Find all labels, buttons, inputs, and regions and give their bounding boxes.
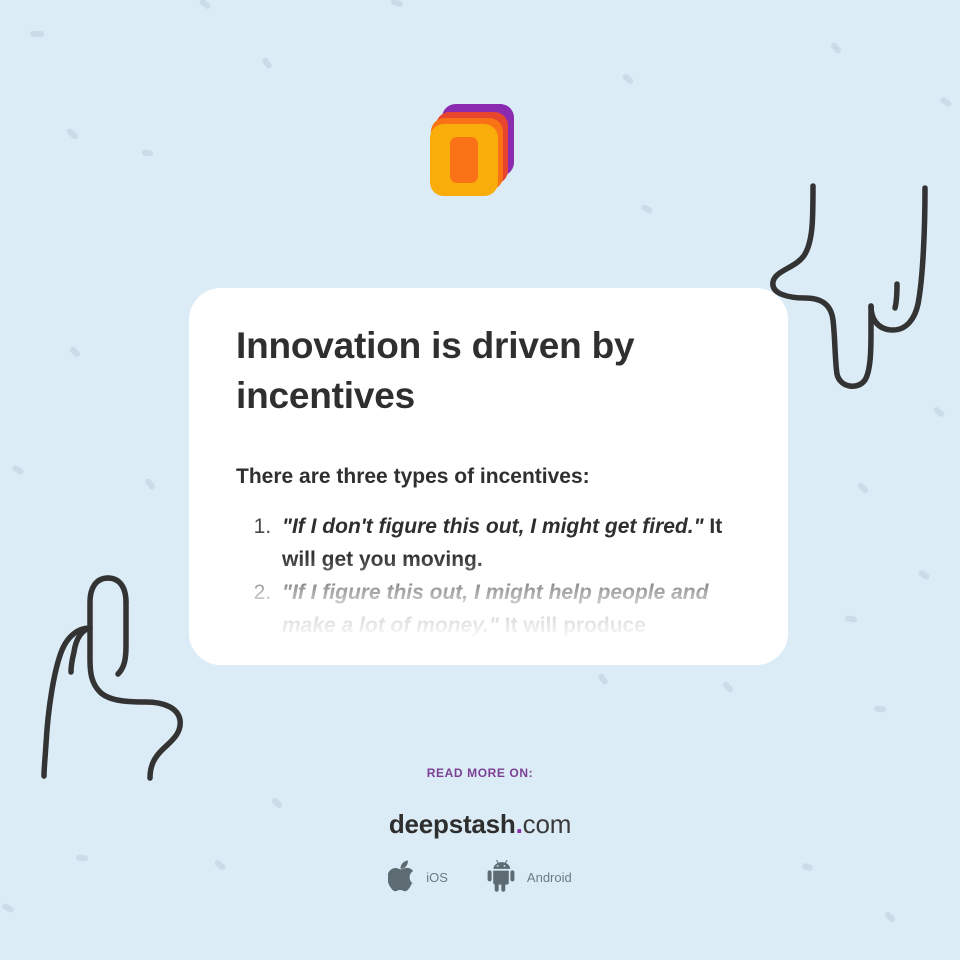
confetti-piece [597,672,609,685]
list-item: "If I figure this out, I might help peop… [277,576,748,642]
confetti-piece [722,681,734,694]
incentives-list: "If I don't figure this out, I might get… [236,510,748,642]
list-item-quote: "If I don't figure this out, I might get… [282,515,704,538]
confetti-piece [390,0,403,8]
confetti-piece [932,406,945,418]
idea-card: Innovation is driven by incentives There… [189,288,788,665]
confetti-piece [30,31,44,37]
confetti-piece [874,706,886,713]
confetti-piece [1,902,14,913]
confetti-piece [142,149,154,156]
brand-dot: . [516,809,523,839]
android-label: Android [527,870,572,885]
confetti-piece [884,911,897,924]
pointing-hand-bottom-left [28,568,208,783]
confetti-piece [69,346,82,359]
apple-icon [388,860,417,894]
confetti-piece [830,41,842,54]
android-icon [484,860,518,894]
list-item-rest: It will produce [499,614,646,637]
confetti-piece [857,482,870,495]
idea-card-content: Innovation is driven by incentives There… [189,288,788,642]
brand-tld: com [523,809,572,839]
confetti-piece [11,464,24,475]
poster-canvas: Innovation is driven by incentives There… [0,0,960,960]
android-badge[interactable]: Android [484,860,572,894]
confetti-piece [198,0,211,10]
confetti-piece [66,127,80,140]
deepstash-logo [428,102,520,200]
ios-label: iOS [426,870,448,885]
confetti-piece [261,56,273,69]
confetti-piece [917,569,930,581]
brand-name: deepstash [389,809,516,839]
page-title: Innovation is driven by incentives [236,321,748,421]
ios-badge[interactable]: iOS [388,860,448,894]
confetti-piece [845,615,858,623]
confetti-piece [939,96,952,108]
list-item: "If I don't figure this out, I might get… [277,510,748,576]
card-subtitle: There are three types of incentives: [236,463,748,490]
app-store-badges: iOS Android [0,860,960,894]
footer: READ MORE ON: deepstash.com iOS [0,766,960,894]
confetti-piece [144,477,156,490]
confetti-piece [621,73,634,85]
confetti-piece [640,203,653,214]
read-more-label: READ MORE ON: [0,766,960,780]
brand-wordmark: deepstash.com [0,809,960,840]
